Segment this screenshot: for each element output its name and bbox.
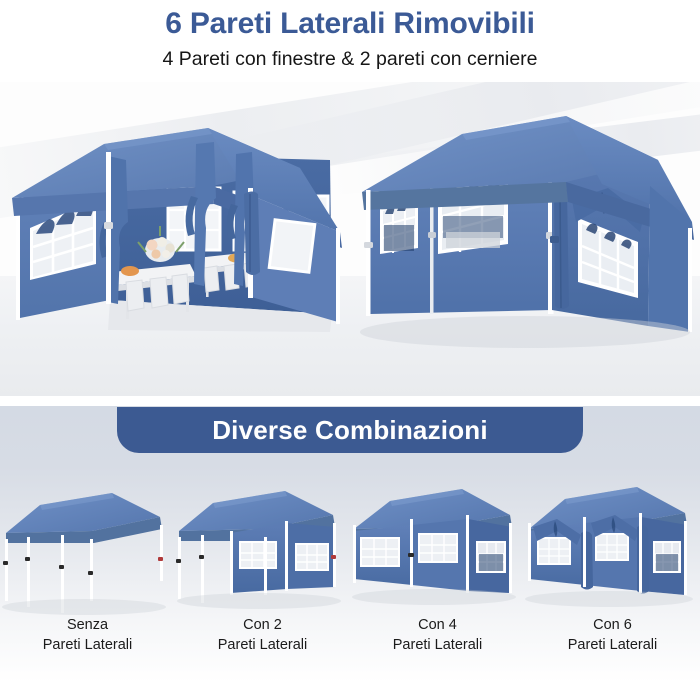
caption-4-walls: Con 4 Pareti Laterali xyxy=(350,616,525,676)
gazebo-side-view-photo xyxy=(0,82,350,396)
caption-line-1: Con 4 xyxy=(350,616,525,636)
page-subtitle: 4 Pareti con finestre & 2 pareti con cer… xyxy=(0,42,700,71)
page-title: 6 Pareti Laterali Rimovibili xyxy=(0,0,700,42)
combinations-banner: Diverse Combinazioni xyxy=(117,407,583,453)
caption-line-2: Pareti Laterali xyxy=(0,636,175,656)
thumbnail-6-walls xyxy=(525,461,700,621)
caption-line-2: Pareti Laterali xyxy=(525,636,700,656)
caption-line-1: Con 2 xyxy=(175,616,350,636)
caption-line-1: Senza xyxy=(0,616,175,636)
header: 6 Pareti Laterali Rimovibili 4 Pareti co… xyxy=(0,0,700,82)
caption-2-walls: Con 2 Pareti Laterali xyxy=(175,616,350,676)
combination-thumbnails xyxy=(0,461,700,621)
caption-line-2: Pareti Laterali xyxy=(175,636,350,656)
photo-section: Lato Fronte & Retro xyxy=(0,82,700,396)
gazebo-front-back-view-photo xyxy=(350,82,700,396)
thumbnail-2-walls xyxy=(175,461,350,621)
combination-captions: Senza Pareti Laterali Con 2 Pareti Later… xyxy=(0,616,700,676)
caption-line-1: Con 6 xyxy=(525,616,700,636)
caption-line-2: Pareti Laterali xyxy=(350,636,525,656)
caption-6-walls: Con 6 Pareti Laterali xyxy=(525,616,700,676)
caption-0-walls: Senza Pareti Laterali xyxy=(0,616,175,676)
thumbnail-0-walls xyxy=(0,461,175,621)
thumbnail-4-walls xyxy=(350,461,525,621)
